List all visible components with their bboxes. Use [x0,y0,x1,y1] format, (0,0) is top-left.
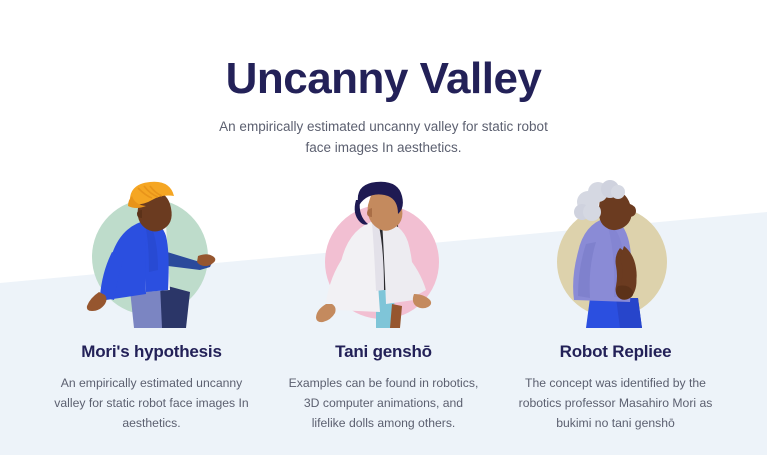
card-robot-repliee: Robot Repliee The concept was identified… [500,186,732,433]
page-subtitle: An empirically estimated uncanny valley … [219,117,549,159]
person-lab-coat-illustration [314,186,454,328]
person-grey-hair-sweater-illustration [546,186,686,328]
cards-row: Mori's hypothesis An empirically estimat… [0,186,767,433]
card-description: Examples can be found in robotics, 3D co… [286,373,482,433]
card-mori-hypothesis: Mori's hypothesis An empirically estimat… [36,186,268,433]
person-turban-arms-out-illustration [82,186,222,328]
page-title: Uncanny Valley [0,55,767,103]
card-title: Tani genshō [335,342,432,362]
card-title: Robot Repliee [560,342,672,362]
uncanny-valley-page: Uncanny Valley An empirically estimated … [0,0,767,455]
card-tani-gensho: Tani genshō Examples can be found in rob… [268,186,500,433]
card-description: An empirically estimated uncanny valley … [54,373,250,433]
card-description: The concept was identified by the roboti… [513,373,719,433]
page-header: Uncanny Valley An empirically estimated … [0,0,767,159]
card-title: Mori's hypothesis [81,342,221,362]
